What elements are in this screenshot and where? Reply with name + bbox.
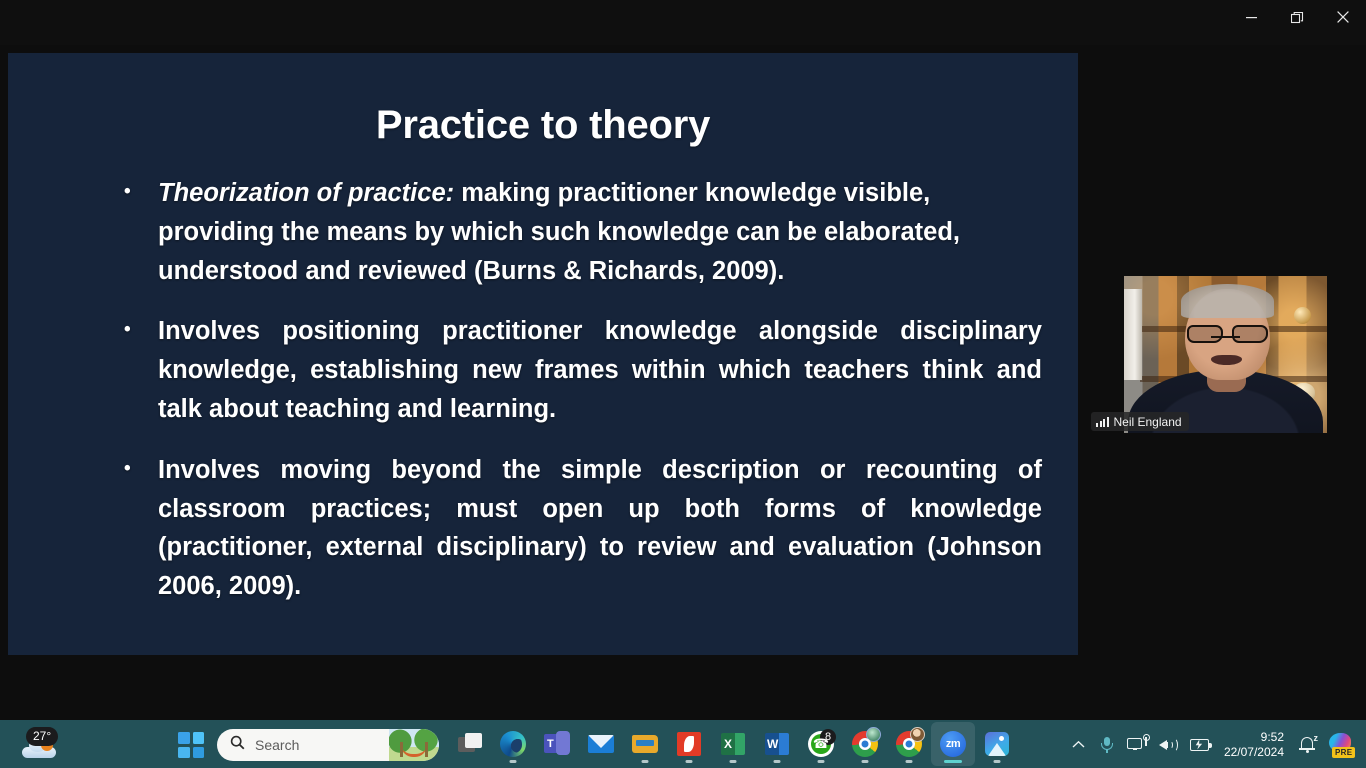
taskbar-item-photos[interactable] [975, 722, 1019, 766]
search-icon [230, 735, 245, 755]
profile-avatar-icon [910, 727, 925, 742]
taskbar-item-task-view[interactable] [447, 722, 491, 766]
taskbar-item-pdf-reader[interactable] [667, 722, 711, 766]
slide-bullet-1-lead: Theorization of practice: [158, 179, 454, 207]
battery-charging-icon [1190, 739, 1212, 752]
chrome-icon [852, 731, 878, 757]
clock-date: 22/07/2024 [1224, 745, 1284, 760]
tray-microphone-button[interactable] [1093, 725, 1121, 765]
running-indicator [730, 760, 737, 763]
photos-icon [985, 732, 1009, 756]
profile-badge-icon [866, 727, 881, 742]
shared-screen-slide: Practice to theory Theorization of pract… [8, 53, 1078, 655]
running-indicator [818, 760, 825, 763]
taskbar-item-mail[interactable] [579, 722, 623, 766]
slide-bullet-3-text: Involves moving beyond the simple descri… [158, 456, 1042, 600]
running-indicator [642, 760, 649, 763]
running-indicator [686, 760, 693, 763]
tray-cast-button[interactable] [1121, 725, 1153, 765]
tray-overflow-button[interactable] [1065, 725, 1093, 765]
taskbar-item-google-chrome-1[interactable] [843, 722, 887, 766]
taskbar-weather-widget[interactable]: 27° [12, 726, 78, 766]
slide-bullet-2: Involves positioning practitioner knowle… [118, 312, 1042, 428]
running-indicator [510, 760, 517, 763]
running-indicator [994, 760, 1001, 763]
tray-volume-button[interactable] [1153, 725, 1184, 765]
cast-screen-icon [1127, 737, 1147, 753]
taskbar-item-microsoft-edge[interactable] [491, 722, 535, 766]
microphone-icon [1099, 736, 1115, 754]
slide-bullet-list: Theorization of practice: making practit… [118, 174, 1042, 606]
restore-button[interactable] [1274, 0, 1320, 34]
hammock-trees-image[interactable] [389, 729, 439, 761]
zoom-icon: zm [940, 731, 966, 757]
running-indicator [774, 760, 781, 763]
windows-logo-icon [178, 732, 190, 744]
tray-copilot-button[interactable]: PRE [1322, 725, 1360, 765]
participant-name: Neil England [1114, 415, 1182, 429]
teams-letter: T [547, 738, 554, 750]
folder-icon [632, 735, 658, 753]
slide-bullet-2-text: Involves positioning practitioner knowle… [158, 317, 1042, 423]
speaker-icon [1159, 737, 1178, 753]
running-indicator [862, 760, 869, 763]
start-button[interactable] [178, 732, 204, 758]
taskbar-item-zoom[interactable]: zm [931, 722, 975, 766]
copilot-preview-badge: PRE [1332, 747, 1355, 758]
active-window-indicator [944, 760, 962, 763]
system-tray: 9:52 22/07/2024 z PRE [1065, 722, 1366, 768]
close-button[interactable] [1320, 0, 1366, 34]
slide-bullet-3: Involves moving beyond the simple descri… [118, 451, 1042, 606]
minimize-button[interactable] [1228, 0, 1274, 34]
chrome-icon [896, 731, 922, 757]
tray-battery-button[interactable] [1184, 725, 1218, 765]
taskbar-item-whatsapp[interactable]: ☎ 8 [799, 722, 843, 766]
copilot-icon: PRE [1328, 733, 1354, 757]
task-view-icon [458, 733, 480, 755]
word-icon: W [765, 733, 789, 755]
taskbar-item-google-chrome-2[interactable] [887, 722, 931, 766]
window-titlebar [0, 0, 1366, 45]
bell-badge: z [1314, 733, 1319, 743]
teams-icon: T [544, 731, 570, 757]
edge-icon [500, 731, 526, 757]
chevron-up-icon [1072, 738, 1085, 752]
red-app-icon [677, 732, 701, 756]
participant-silhouette [1124, 276, 1327, 433]
running-indicator [906, 760, 913, 763]
eyeglasses [1187, 325, 1268, 344]
excel-letter: X [724, 737, 732, 751]
taskbar-item-microsoft-word[interactable]: W [755, 722, 799, 766]
tray-notifications-button[interactable]: z [1292, 725, 1322, 765]
search-placeholder: Search [255, 737, 299, 753]
word-letter: W [767, 737, 778, 751]
zoom-label: zm [946, 738, 960, 750]
weather-temperature: 27° [26, 727, 58, 746]
excel-icon: X [721, 733, 745, 755]
search-input[interactable]: Search [217, 729, 439, 761]
taskbar-item-file-explorer[interactable] [623, 722, 667, 766]
tray-clock[interactable]: 9:52 22/07/2024 [1218, 730, 1292, 760]
mail-icon [588, 735, 614, 753]
bell-silenced-icon: z [1298, 736, 1316, 754]
participant-video-tile[interactable] [1124, 276, 1327, 433]
taskbar-item-microsoft-excel[interactable]: X [711, 722, 755, 766]
slide-bullet-1: Theorization of practice: making practit… [118, 174, 1042, 290]
taskbar-app-list: T X W ☎ 8 zm [447, 722, 1019, 768]
taskbar-item-microsoft-teams[interactable]: T [535, 722, 579, 766]
slide-title: Practice to theory [8, 103, 1078, 148]
participant-name-badge: Neil England [1091, 412, 1189, 431]
signal-bars-icon [1096, 417, 1109, 427]
clock-time: 9:52 [1261, 730, 1284, 745]
